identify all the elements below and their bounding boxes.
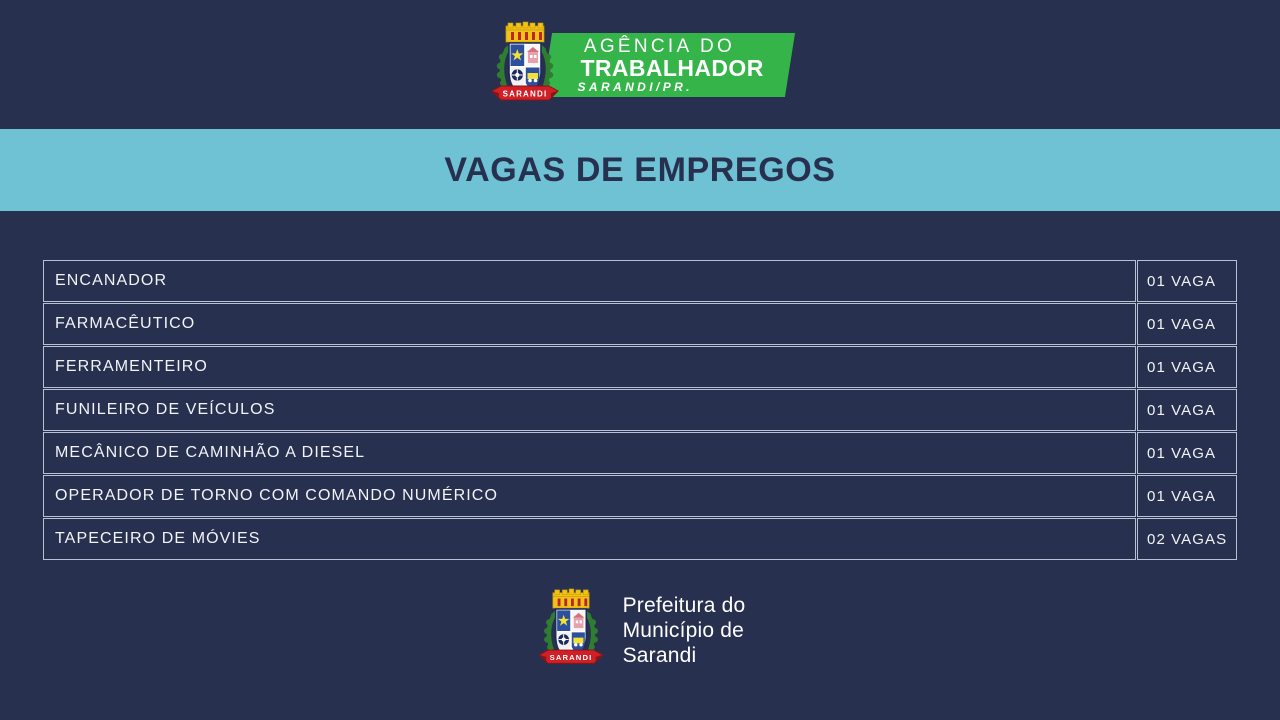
vacancies-section: ENCANADOR 01 VAGA FARMACÊUTICO 01 VAGA F… (0, 211, 1280, 561)
job-title-cell: ENCANADOR (43, 260, 1136, 302)
table-row: MECÂNICO DE CAMINHÃO A DIESEL 01 VAGA (43, 432, 1237, 474)
prefeitura-wordmark: Prefeitura do Município de Sarandi (623, 593, 746, 668)
page-title: VAGAS DE EMPREGOS (444, 151, 835, 190)
footer-line-municipio: Município de (623, 618, 746, 643)
page-footer: SARANDI Prefeitura do Município de Saran… (0, 588, 1280, 672)
vacancy-count-cell: 01 VAGA (1137, 303, 1237, 345)
sarandi-coat-of-arms-icon: SARANDI (535, 588, 607, 672)
vacancy-count-cell: 01 VAGA (1137, 475, 1237, 517)
job-title-cell: FERRAMENTEIRO (43, 346, 1136, 388)
job-title-cell: OPERADOR DE TORNO COM COMANDO NUMÉRICO (43, 475, 1136, 517)
page-header: SARANDI AGÊNCIA DO TRABALHADOR SARANDI/P… (0, 0, 1280, 129)
table-row: FERRAMENTEIRO 01 VAGA (43, 346, 1237, 388)
title-band: VAGAS DE EMPREGOS (0, 129, 1280, 211)
footer-line-prefeitura: Prefeitura do (623, 593, 746, 618)
vacancy-count-cell: 01 VAGA (1137, 260, 1237, 302)
crest-ribbon-text: SARANDI (503, 89, 548, 98)
vacancy-count-cell: 01 VAGA (1137, 389, 1237, 431)
footer-line-sarandi: Sarandi (623, 643, 746, 668)
table-row: FARMACÊUTICO 01 VAGA (43, 303, 1237, 345)
sarandi-coat-of-arms-icon: SARANDI (489, 21, 561, 109)
vacancies-table: ENCANADOR 01 VAGA FARMACÊUTICO 01 VAGA F… (43, 259, 1237, 561)
crest-ribbon-text: SARANDI (549, 653, 592, 662)
vacancy-count-cell: 02 VAGAS (1137, 518, 1237, 560)
vacancies-table-body: ENCANADOR 01 VAGA FARMACÊUTICO 01 VAGA F… (43, 260, 1237, 560)
logo-line-sarandi-pr: SARANDI/PR. (578, 79, 761, 93)
job-title-cell: TAPECEIRO DE MÓVIES (43, 518, 1136, 560)
table-row: TAPECEIRO DE MÓVIES 02 VAGAS (43, 518, 1237, 560)
logo-line-trabalhador: TRABALHADOR (581, 56, 764, 79)
vacancy-count-cell: 01 VAGA (1137, 432, 1237, 474)
agencia-green-banner: AGÊNCIA DO TRABALHADOR SARANDI/PR. (542, 33, 795, 97)
job-title-cell: MECÂNICO DE CAMINHÃO A DIESEL (43, 432, 1136, 474)
job-title-cell: FUNILEIRO DE VEÍCULOS (43, 389, 1136, 431)
table-row: OPERADOR DE TORNO COM COMANDO NUMÉRICO 0… (43, 475, 1237, 517)
logo-line-agencia-do: AGÊNCIA DO (584, 36, 767, 56)
table-row: FUNILEIRO DE VEÍCULOS 01 VAGA (43, 389, 1237, 431)
job-title-cell: FARMACÊUTICO (43, 303, 1136, 345)
agencia-trabalhador-logo: SARANDI AGÊNCIA DO TRABALHADOR SARANDI/P… (489, 19, 790, 111)
vacancy-count-cell: 01 VAGA (1137, 346, 1237, 388)
table-row: ENCANADOR 01 VAGA (43, 260, 1237, 302)
